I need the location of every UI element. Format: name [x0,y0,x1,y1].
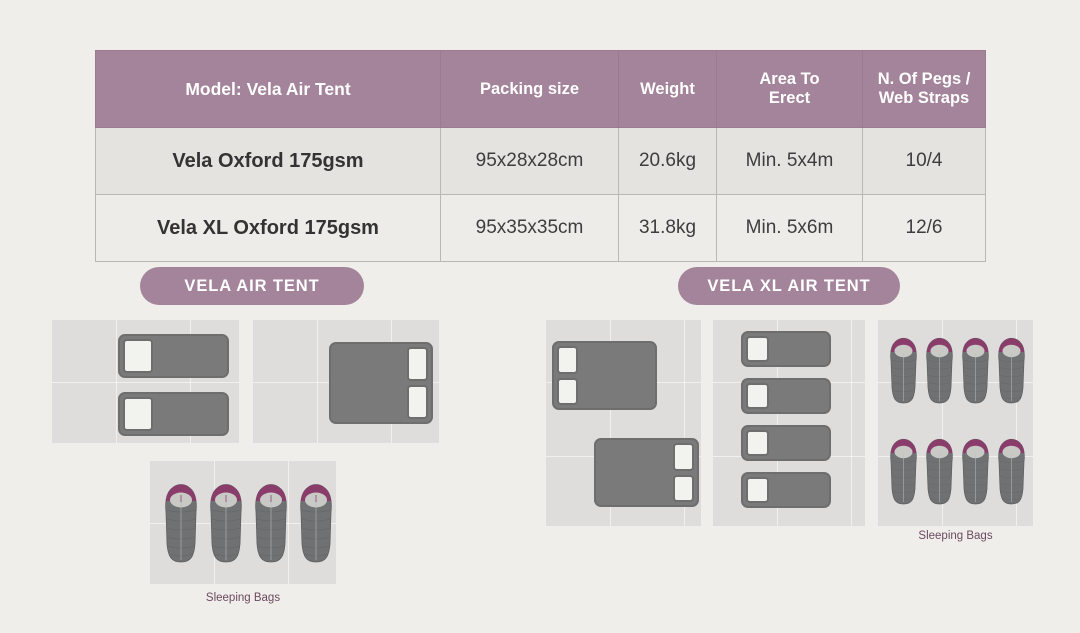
cell-weight: 20.6kg [619,128,717,195]
cell-area-to-erect: Min. 5x6m [717,195,863,262]
sleeping-bags-caption-left: Sleeping Bags [150,592,336,604]
pillow [746,383,769,409]
cell-model: Vela Oxford 175gsm [96,128,441,195]
table-header-row: Model: Vela Air Tent Packing size Weight… [96,51,986,128]
section-badge-vela-xl-air-tent: VELA XL AIR TENT [678,267,900,305]
bed-double [594,438,699,507]
bed-single [118,334,229,378]
column-header-model: Model: Vela Air Tent [96,51,441,128]
table-row: Vela XL Oxford 175gsm 95x35x35cm 31.8kg … [96,195,986,262]
pegs-straps-line-1: N. Of Pegs / [878,70,971,88]
cell-pegs-web-straps: 10/4 [863,128,986,195]
bed-single [741,425,831,461]
sleeping-bags-panel-vela-xl [878,320,1033,526]
pillow-group [404,344,431,422]
pillow-group [743,474,772,506]
pillow-group [670,440,697,505]
pillow [746,477,769,503]
bed-single [118,392,229,436]
cell-area-to-erect: Min. 5x4m [717,128,863,195]
area-to-erect-line-1: Area To [759,70,819,88]
pillow [673,443,694,471]
column-header-weight: Weight [619,51,717,128]
pillow-group [554,343,581,408]
layout-panel-one-double-bed [253,320,439,443]
pillow [557,346,578,374]
pillow-group [120,336,156,376]
pillow [673,475,694,503]
column-header-packing-size: Packing size [441,51,619,128]
sleeping-bags-caption-right: Sleeping Bags [878,530,1033,542]
pillow-group [120,394,156,434]
bed-single [741,472,831,508]
column-header-area-to-erect: Area To Erect [717,51,863,128]
pillow [557,378,578,406]
cell-model: Vela XL Oxford 175gsm [96,195,441,262]
cell-packing-size: 95x35x35cm [441,195,619,262]
pillow-group [743,333,772,365]
cell-pegs-web-straps: 12/6 [863,195,986,262]
pegs-straps-line-2: Web Straps [879,89,969,107]
sleeping-bags-group-4 [150,461,336,584]
layout-panel-two-double-beds [546,320,701,526]
pillow [123,339,153,373]
sleeping-bags-group-8 [878,320,1033,526]
pillow [746,430,769,456]
pillow-group [743,427,772,459]
pillow [407,347,428,381]
bed-single [741,331,831,367]
area-to-erect-line-2: Erect [769,89,810,107]
pillow-group [743,380,772,412]
sleeping-bags-panel-vela [150,461,336,584]
bed-double [329,342,433,424]
layout-panel-two-single-beds [52,320,239,443]
bed-double [552,341,657,410]
section-badge-vela-air-tent: VELA AIR TENT [140,267,364,305]
specifications-table: Model: Vela Air Tent Packing size Weight… [95,50,986,262]
table-row: Vela Oxford 175gsm 95x28x28cm 20.6kg Min… [96,128,986,195]
pillow [123,397,153,431]
bed-single [741,378,831,414]
layout-panel-four-single-beds [713,320,865,526]
cell-packing-size: 95x28x28cm [441,128,619,195]
pillow [407,385,428,419]
cell-weight: 31.8kg [619,195,717,262]
pillow [746,336,769,362]
column-header-pegs-web-straps: N. Of Pegs / Web Straps [863,51,986,128]
